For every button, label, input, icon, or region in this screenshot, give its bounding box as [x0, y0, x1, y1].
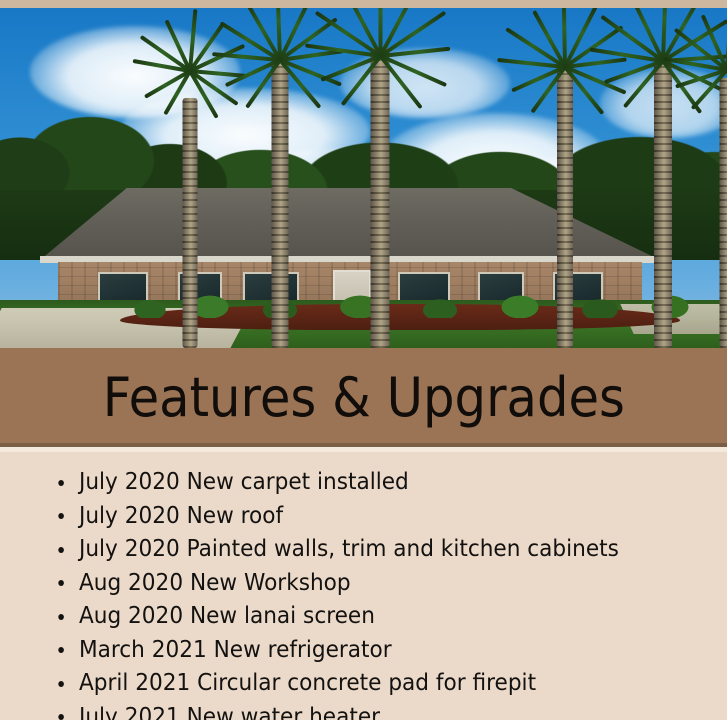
flyer-page: Features & Upgrades July 2020 New carpet… — [0, 0, 727, 720]
list-item: Aug 2020 New lanai screen — [0, 600, 683, 634]
list-item: July 2021 New water heater — [0, 701, 683, 720]
list-item: April 2021 Circular concrete pad for fir… — [0, 667, 683, 701]
list-item: Aug 2020 New Workshop — [0, 567, 683, 601]
features-list: July 2020 New carpet installed July 2020… — [0, 452, 727, 720]
section-title-band: Features & Upgrades — [0, 348, 727, 447]
palm-tree — [310, 8, 450, 348]
features-list-section: July 2020 New carpet installed July 2020… — [0, 452, 727, 720]
list-item: July 2020 New carpet installed — [0, 466, 683, 500]
page-title: Features & Upgrades — [102, 371, 624, 425]
list-item: July 2020 Painted walls, trim and kitche… — [0, 533, 683, 567]
property-photo — [0, 8, 727, 348]
list-item: July 2020 New roof — [0, 500, 683, 534]
palm-tree — [672, 18, 727, 348]
list-item: March 2021 New refrigerator — [0, 634, 683, 668]
previous-slide-sliver — [0, 0, 727, 8]
